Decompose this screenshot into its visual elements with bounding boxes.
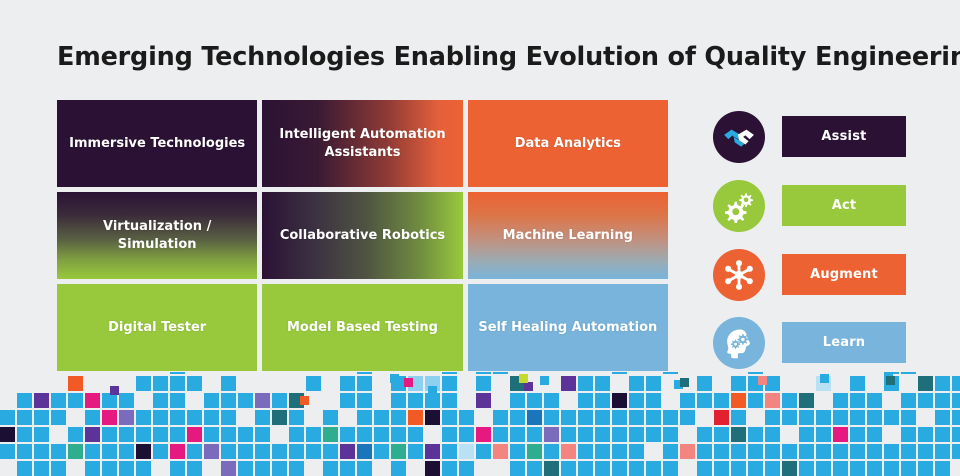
- tile-label: Data Analytics: [515, 135, 621, 153]
- tile-immersive-technologies[interactable]: Immersive Technologies: [57, 100, 257, 187]
- legend-item-augment[interactable]: Augment: [713, 246, 909, 303]
- tile-label: Machine Learning: [503, 227, 633, 245]
- tile-label: Collaborative Robotics: [280, 227, 445, 245]
- infographic-page: Emerging Technologies Enabling Evolution…: [0, 0, 960, 476]
- legend-bar-act[interactable]: Act: [782, 185, 906, 226]
- head-gears-icon: [721, 325, 757, 361]
- tile-label: Intelligent Automation Assistants: [272, 126, 452, 161]
- pixel-mosaic-svg: [0, 372, 960, 476]
- gears-icon-badge: [713, 180, 765, 232]
- handshake-icon-badge: [713, 111, 765, 163]
- technology-grid: Immersive Technologies Intelligent Autom…: [57, 100, 668, 371]
- legend-bar-learn[interactable]: Learn: [782, 322, 906, 363]
- tile-data-analytics[interactable]: Data Analytics: [468, 100, 668, 187]
- network-hub-icon: [721, 257, 757, 293]
- legend-item-assist[interactable]: Assist: [713, 108, 909, 165]
- legend-bar-augment[interactable]: Augment: [782, 254, 906, 295]
- capability-legend: Assist Act: [713, 108, 909, 371]
- legend-label: Learn: [823, 335, 866, 350]
- tile-self-healing-automation[interactable]: Self Healing Automation: [468, 284, 668, 371]
- tile-intelligent-automation-assistants[interactable]: Intelligent Automation Assistants: [262, 100, 462, 187]
- legend-label: Assist: [821, 129, 866, 144]
- tile-virtualization-simulation[interactable]: Virtualization / Simulation: [57, 192, 257, 279]
- head-gears-icon-badge: [713, 317, 765, 369]
- tile-digital-tester[interactable]: Digital Tester: [57, 284, 257, 371]
- tile-model-based-testing[interactable]: Model Based Testing: [262, 284, 462, 371]
- gears-icon: [722, 189, 756, 223]
- tile-collaborative-robotics[interactable]: Collaborative Robotics: [262, 192, 462, 279]
- page-title: Emerging Technologies Enabling Evolution…: [57, 42, 917, 72]
- legend-bar-assist[interactable]: Assist: [782, 116, 906, 157]
- tile-machine-learning[interactable]: Machine Learning: [468, 192, 668, 279]
- tile-label: Immersive Technologies: [69, 135, 245, 153]
- tile-label: Digital Tester: [108, 319, 206, 337]
- legend-label: Act: [832, 198, 857, 213]
- pixel-mosaic-decoration: [0, 372, 960, 476]
- handshake-icon: [722, 120, 756, 154]
- legend-item-act[interactable]: Act: [713, 177, 909, 234]
- network-hub-icon-badge: [713, 249, 765, 301]
- legend-label: Augment: [810, 267, 878, 282]
- tile-label: Virtualization / Simulation: [67, 218, 247, 253]
- tile-label: Self Healing Automation: [478, 319, 657, 337]
- legend-item-learn[interactable]: Learn: [713, 314, 909, 371]
- tile-label: Model Based Testing: [287, 319, 438, 337]
